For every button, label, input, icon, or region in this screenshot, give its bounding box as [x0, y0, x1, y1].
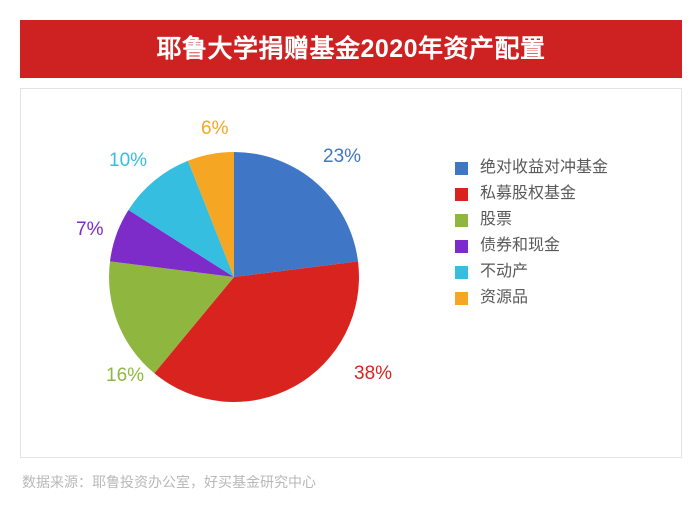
legend-item-label: 私募股权基金 [480, 186, 576, 202]
data-source-note: 数据来源：耶鲁投资办公室，好买基金研究中心 [22, 475, 316, 489]
legend-swatch-icon [455, 292, 468, 305]
legend-item-label: 股票 [480, 212, 512, 228]
pie-label-private-equity: 38% [354, 364, 392, 383]
chart-card: 23% 38% 16% 7% 10% 6% 绝对收益对冲基金私募股权基金股票债券… [20, 88, 682, 458]
title-banner: 耶鲁大学捐赠基金2020年资产配置 [20, 20, 682, 78]
legend-swatch-icon [455, 214, 468, 227]
legend-item[interactable]: 债券和现金 [455, 233, 665, 259]
pie-chart [109, 152, 359, 402]
legend-item-label: 债券和现金 [480, 238, 560, 254]
pie-slice-group [109, 152, 359, 402]
legend-item-label: 绝对收益对冲基金 [480, 160, 608, 176]
legend-item[interactable]: 绝对收益对冲基金 [455, 155, 665, 181]
legend-item[interactable]: 不动产 [455, 259, 665, 285]
legend-swatch-icon [455, 188, 468, 201]
legend-swatch-icon [455, 240, 468, 253]
chart-page: 耶鲁大学捐赠基金2020年资产配置 23% 38% 16% 7% 10% 6% … [0, 0, 700, 524]
page-title: 耶鲁大学捐赠基金2020年资产配置 [156, 37, 545, 62]
legend-swatch-icon [455, 266, 468, 279]
chart-legend: 绝对收益对冲基金私募股权基金股票债券和现金不动产资源品 [455, 155, 665, 311]
legend-item[interactable]: 私募股权基金 [455, 181, 665, 207]
legend-item[interactable]: 资源品 [455, 285, 665, 311]
pie-label-natural-resources: 6% [201, 119, 228, 138]
pie-slice [234, 152, 358, 277]
pie-chart-svg [109, 152, 359, 402]
legend-item-label: 不动产 [480, 264, 528, 280]
legend-swatch-icon [455, 162, 468, 175]
legend-item-label: 资源品 [480, 290, 528, 306]
pie-chart-plot-area: 23% 38% 16% 7% 10% 6% 绝对收益对冲基金私募股权基金股票债券… [21, 89, 683, 459]
pie-label-real-estate: 10% [109, 151, 147, 170]
pie-label-absolute-return: 23% [323, 147, 361, 166]
pie-label-bonds-cash: 7% [76, 220, 103, 239]
legend-item[interactable]: 股票 [455, 207, 665, 233]
pie-label-equities: 16% [106, 366, 144, 385]
